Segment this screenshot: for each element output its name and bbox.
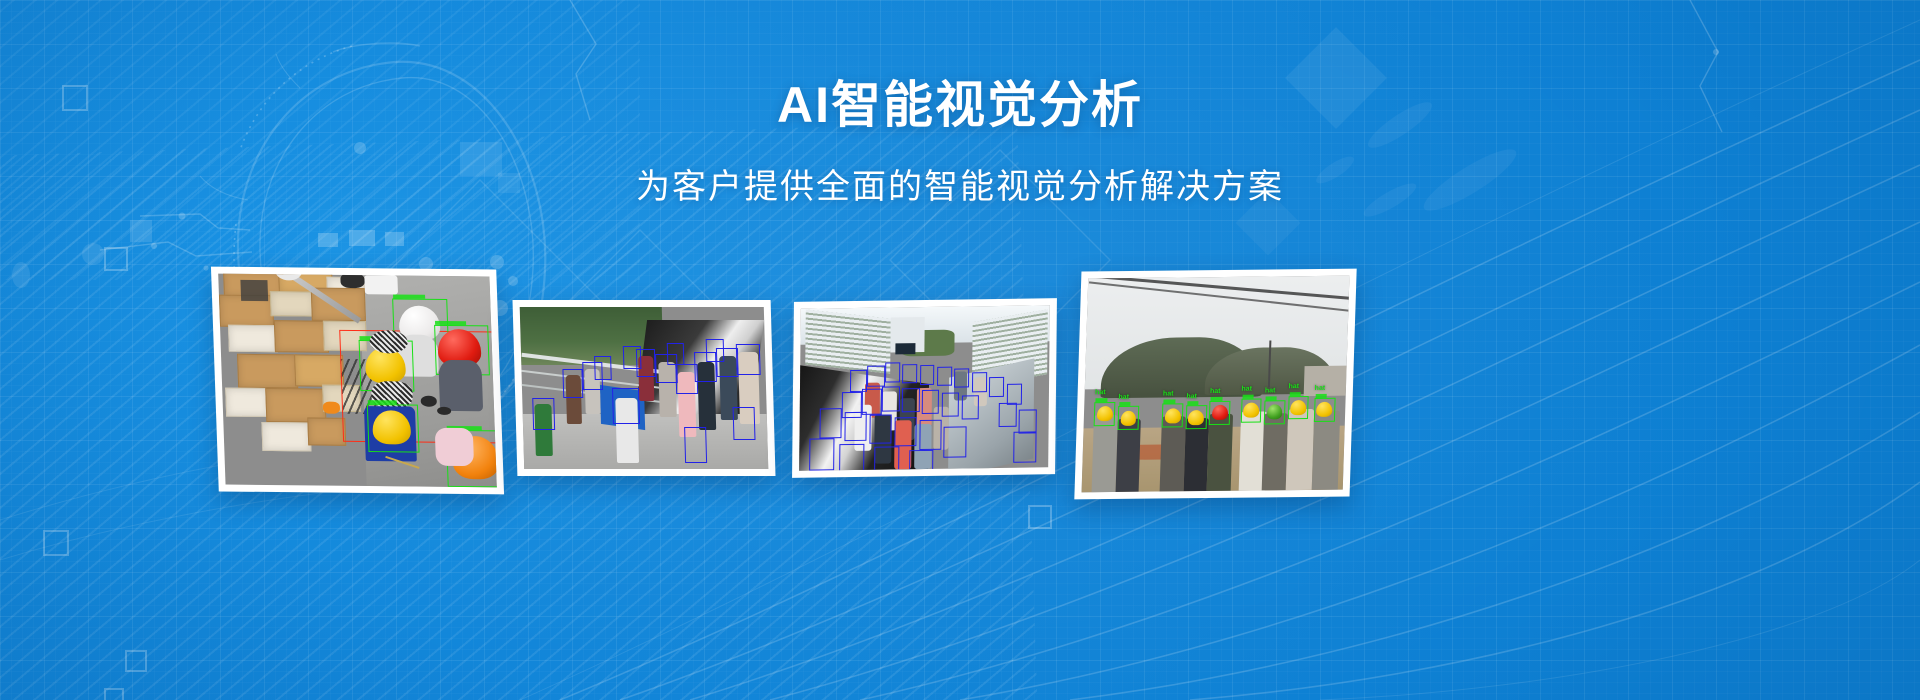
decor-square-outline (104, 688, 124, 700)
decor-square-filled (130, 220, 152, 242)
detection-box-person (922, 389, 940, 414)
detection-box-person (667, 343, 685, 366)
person (1262, 413, 1288, 490)
detection-box-person (894, 417, 917, 446)
detection-box-helmet (366, 404, 419, 453)
person (1160, 416, 1186, 491)
hat-label: hat (1288, 383, 1299, 390)
detection-box-person (809, 438, 834, 471)
carton (307, 418, 346, 446)
detection-box-person (844, 411, 867, 440)
detection-box-person (954, 368, 969, 388)
detection-box-person (612, 388, 640, 424)
detection-box-person (989, 377, 1004, 397)
detection-box-person (902, 364, 917, 384)
detection-box-person (902, 388, 920, 413)
hat-label: hat (1163, 391, 1174, 398)
detection-box-person (684, 427, 707, 463)
gallery-photo-outdoor[interactable]: hat hat hat hat hat (1074, 269, 1356, 500)
detection-box-hat (1094, 402, 1116, 426)
carton (270, 291, 314, 317)
detection-box-hat (1264, 400, 1286, 424)
detection-box-person (944, 426, 967, 457)
detection-box-hat (1209, 401, 1231, 425)
hat-label: hat (1241, 386, 1252, 393)
detection-box-person (732, 407, 755, 439)
hat-label: hat (1186, 393, 1197, 400)
detection-box-person (972, 373, 987, 393)
display-screen (895, 343, 915, 355)
warehouse-scene (218, 274, 497, 488)
detection-box-person (937, 367, 952, 387)
detection-box-person (1006, 383, 1021, 404)
detection-box-person (920, 365, 935, 385)
detection-box-person (909, 449, 934, 470)
carton (261, 422, 311, 452)
banner-copy: AI智能视觉分析 为客户提供全面的智能视觉分析解决方案 (0, 78, 1920, 208)
detection-box-hat (1117, 406, 1139, 430)
hero-banner: AI智能视觉分析 为客户提供全面的智能视觉分析解决方案 (0, 0, 1920, 700)
detection-box-person (882, 387, 900, 412)
detection-box-person (706, 339, 724, 362)
detection-box-person (962, 395, 980, 420)
carton (228, 324, 278, 352)
decor-square-outline (43, 530, 69, 556)
carton (225, 388, 269, 418)
person (1115, 419, 1141, 492)
hat-label: hat (1118, 393, 1129, 400)
detection-box-person (869, 414, 892, 443)
person (1207, 414, 1233, 491)
detection-box-person (563, 369, 583, 398)
detection-box-person (867, 366, 885, 387)
decor-square-outline (125, 650, 147, 672)
detection-box-person (623, 346, 641, 369)
hat-label: hat (1265, 388, 1276, 395)
person (1092, 415, 1118, 492)
detection-box-person (839, 444, 864, 471)
carton (274, 321, 329, 353)
carton (219, 295, 274, 327)
gallery-photo-warehouse[interactable] (211, 267, 504, 495)
detection-box-hat (1240, 398, 1262, 422)
louver-wall-left (805, 310, 890, 374)
detection-box-hat (1185, 405, 1207, 429)
walkway-floor (523, 414, 769, 469)
detection-box-person (874, 447, 899, 471)
page-subtitle: 为客户提供全面的智能视觉分析解决方案 (0, 159, 1920, 208)
detection-box-person (819, 409, 842, 438)
person (1311, 410, 1340, 489)
carton (237, 354, 298, 388)
detection-box-person (999, 403, 1017, 428)
detection-box-person (594, 356, 612, 380)
gallery-photo-walkway[interactable] (512, 300, 775, 476)
detection-box-person (885, 362, 900, 382)
station-scene (799, 305, 1050, 470)
detection-box-hat (1287, 396, 1309, 420)
detection-box-person (532, 398, 555, 430)
hat-label: hat (1314, 385, 1325, 392)
detection-box-person (942, 392, 960, 417)
detection-box-helmet (434, 324, 490, 375)
detection-box-hat (1162, 404, 1184, 428)
detection-box-person (919, 420, 942, 449)
page-title: AI智能视觉分析 (0, 78, 1920, 133)
walkway-scene (520, 307, 769, 469)
hat-label: hat (1210, 388, 1221, 395)
detection-box-helmet (446, 430, 497, 487)
hat-label: hat (1095, 389, 1106, 396)
detection-box-person (1013, 432, 1036, 463)
carton (294, 355, 344, 387)
gallery-photo-station[interactable] (792, 298, 1057, 478)
person (1285, 409, 1314, 491)
detection-box-person (1019, 409, 1037, 434)
detection-box-helmet (359, 340, 415, 391)
detection-box-hat (1314, 398, 1336, 422)
outdoor-scene: hat hat hat hat hat (1082, 276, 1350, 493)
photo-gallery: hat hat hat hat hat (0, 258, 1920, 528)
person (1183, 418, 1209, 491)
detection-box-person (736, 344, 761, 375)
